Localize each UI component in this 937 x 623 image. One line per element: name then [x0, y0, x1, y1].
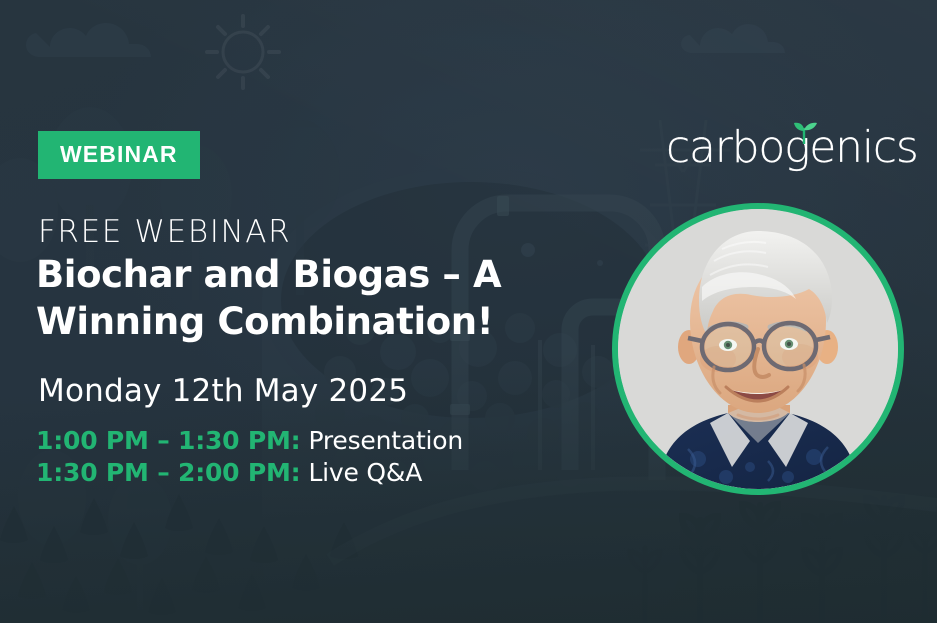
schedule-row: 1:30 PM – 2:00 PM: Live Q&A	[36, 457, 596, 488]
webinar-poster: WEBINAR carbogenics FREE WEBINAR Biochar…	[0, 0, 937, 623]
sprout-icon	[788, 122, 822, 144]
headline-line-1: Biochar and Biogas – A	[36, 251, 596, 298]
schedule-label: Live Q&A	[308, 458, 422, 487]
schedule-row: 1:00 PM – 1:30 PM: Presentation	[36, 425, 596, 456]
schedule-time: 1:00 PM – 1:30 PM:	[36, 426, 300, 455]
webinar-badge: WEBINAR	[38, 131, 200, 179]
webinar-badge-label: WEBINAR	[60, 143, 178, 166]
event-date: Monday 12th May 2025	[38, 372, 408, 410]
headline-line-2: Winning Combination!	[36, 298, 596, 345]
eyebrow-text: FREE WEBINAR	[38, 214, 291, 250]
speaker-portrait	[612, 203, 904, 495]
page-title: Biochar and Biogas – A Winning Combinati…	[36, 251, 596, 345]
carbogenics-logo: carbogenics	[666, 124, 876, 172]
event-schedule: 1:00 PM – 1:30 PM: Presentation 1:30 PM …	[36, 425, 596, 489]
schedule-label: Presentation	[308, 426, 463, 455]
schedule-time: 1:30 PM – 2:00 PM:	[36, 458, 300, 487]
speaker-photo	[618, 209, 898, 489]
